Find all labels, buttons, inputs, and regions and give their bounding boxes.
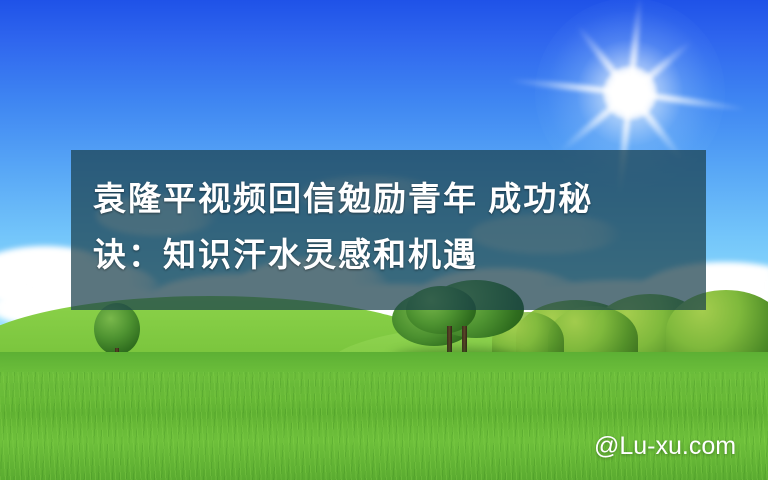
title-line-2: 诀：知识汗水灵感和机遇 <box>93 228 706 284</box>
banner-image: 袁隆平视频回信勉励青年 成功秘 诀：知识汗水灵感和机遇 @Lu-xu.com <box>0 0 768 480</box>
watermark-text: @Lu-xu.com <box>594 432 736 461</box>
grass-blades <box>0 372 768 480</box>
title-line-1: 袁隆平视频回信勉励青年 成功秘 <box>93 172 706 228</box>
title-overlay-panel: 袁隆平视频回信勉励青年 成功秘 诀：知识汗水灵感和机遇 <box>71 150 706 310</box>
